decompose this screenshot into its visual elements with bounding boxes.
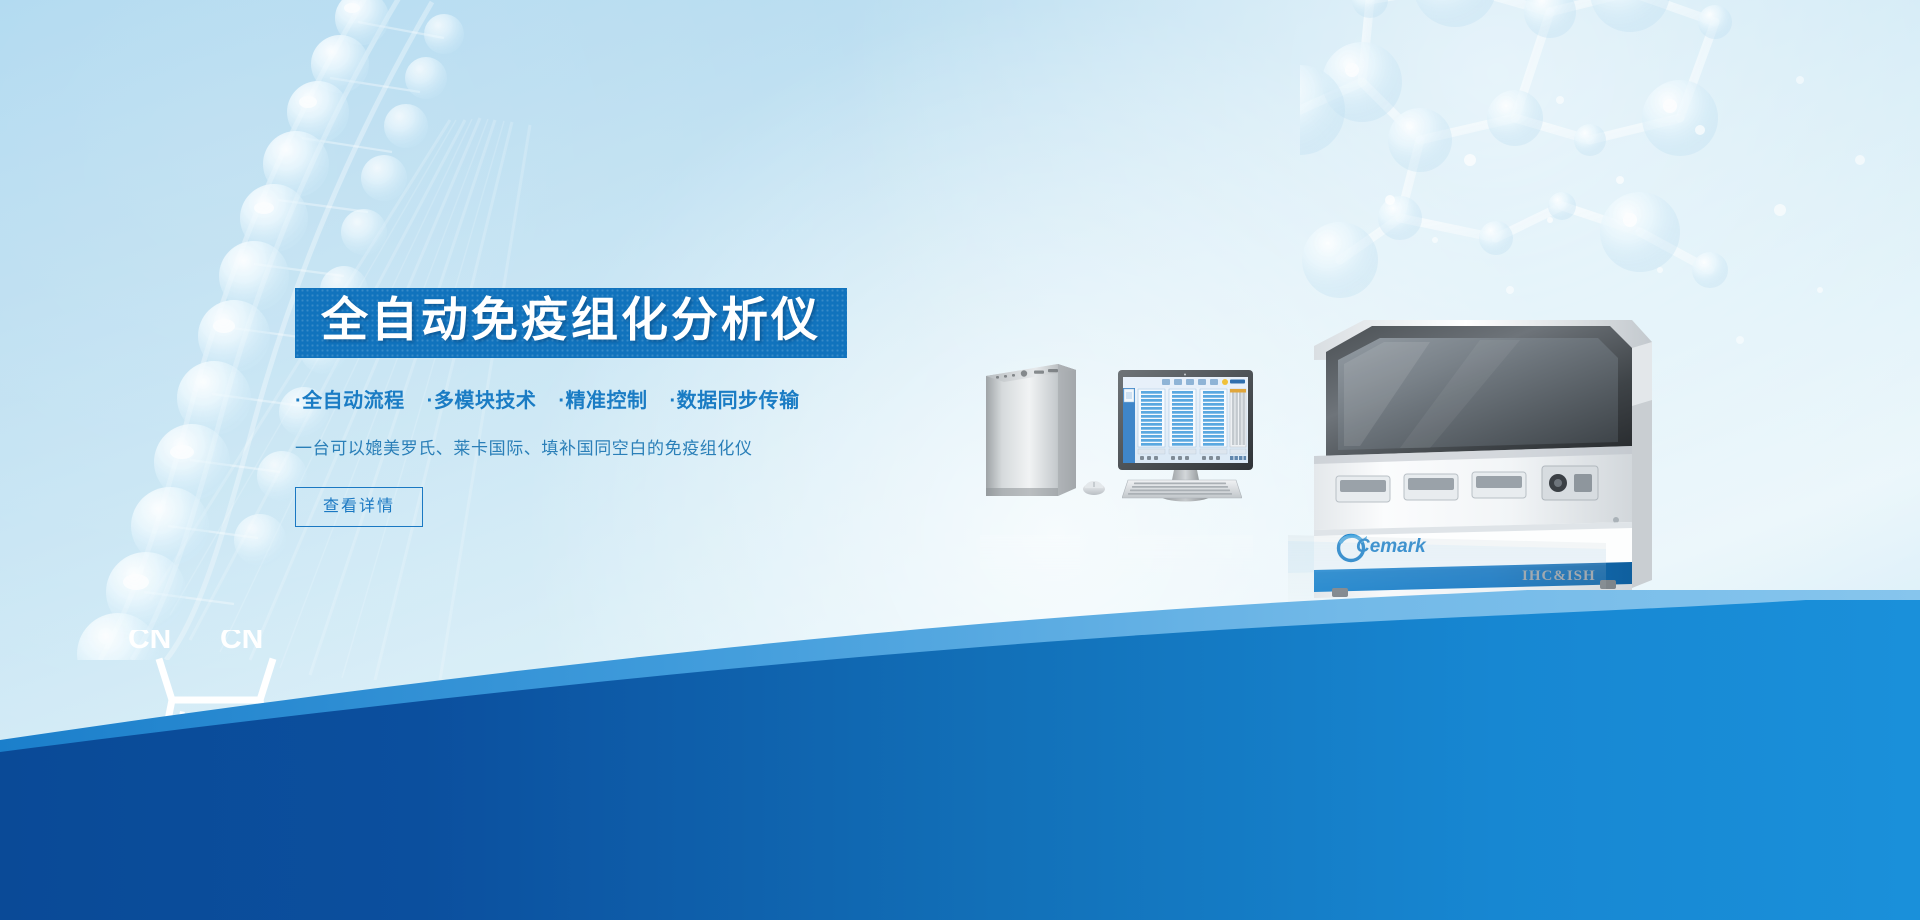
- feature-item-3: ·精准控制: [558, 390, 647, 412]
- view-details-button[interactable]: 查看详情: [295, 487, 423, 527]
- page-title: 全自动免疫组化分析仪: [321, 298, 821, 345]
- monitor-with-software-image: [1118, 370, 1253, 530]
- mouse-image: [1082, 478, 1106, 496]
- feature-item-2: ·多模块技术: [427, 390, 537, 412]
- hero-copy-block: 全自动免疫组化分析仪 ·全自动流程·多模块技术·精准控制·数据同步传输 一台可以…: [295, 288, 935, 527]
- keyboard-image: [1122, 478, 1242, 500]
- hero-banner: CN CN: [0, 0, 1920, 920]
- feature-item-1: ·全自动流程: [295, 390, 405, 412]
- feature-item-4: ·数据同步传输: [670, 390, 800, 412]
- description-text: 一台可以媲美罗氏、莱卡国际、填补国同空白的免疫组化仪: [295, 434, 935, 459]
- title-banner: 全自动免疫组化分析仪: [295, 288, 847, 358]
- wave-main-band: [0, 600, 1920, 920]
- feature-list: ·全自动流程·多模块技术·精准控制·数据同步传输: [295, 384, 935, 413]
- computer-tower-image: [980, 360, 1080, 500]
